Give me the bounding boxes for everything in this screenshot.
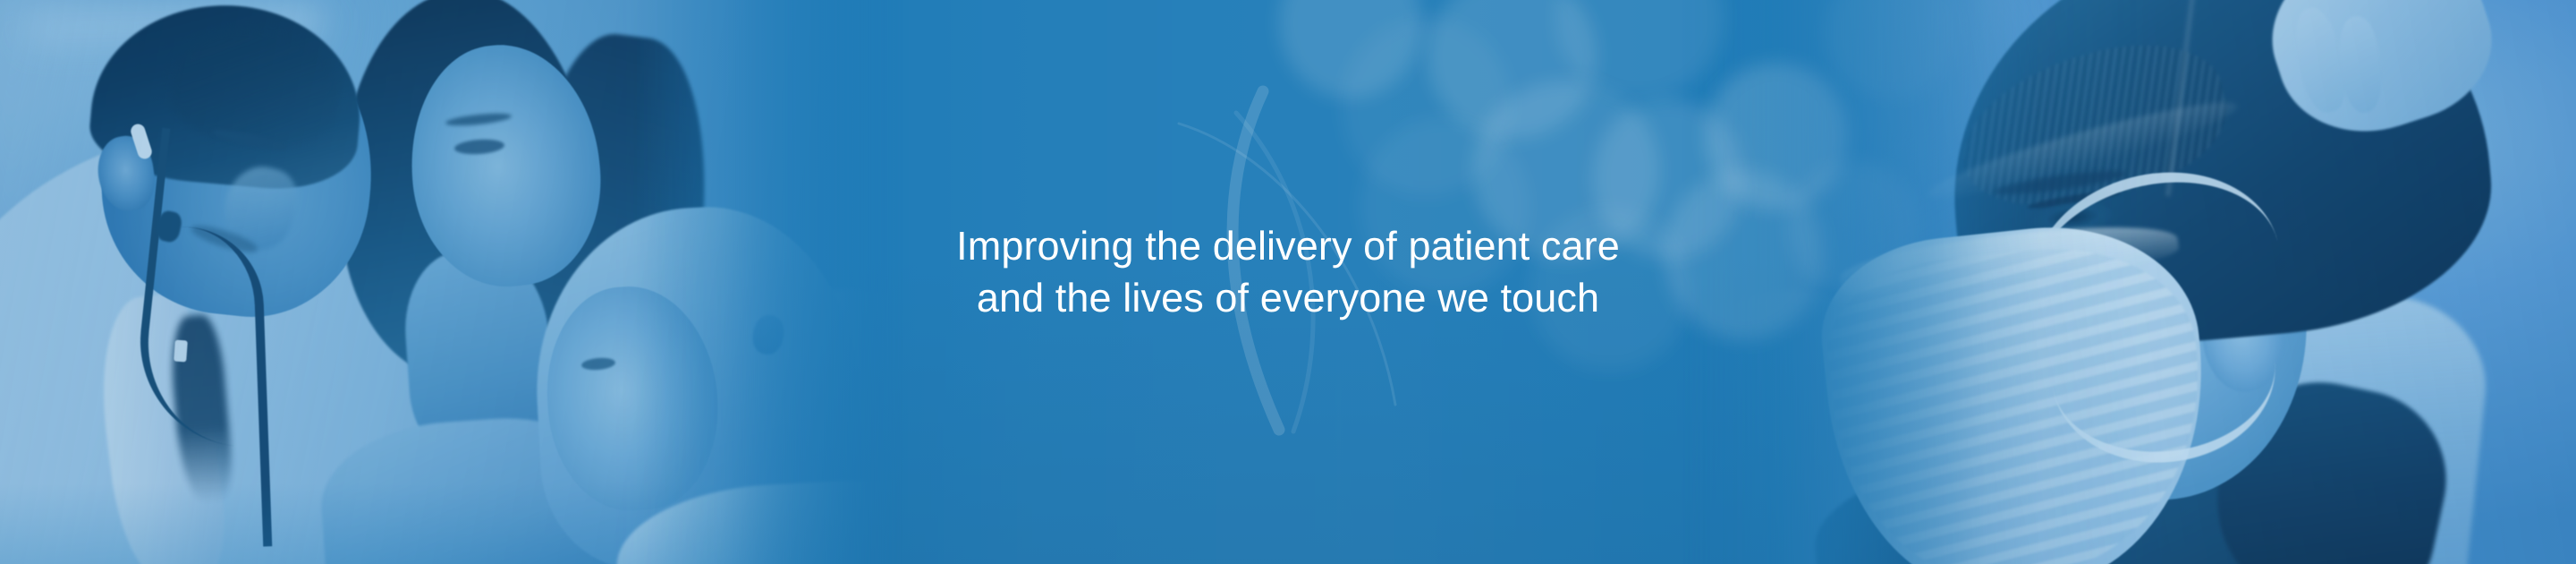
healthcare-hero-banner: Improving the delivery of patient care a… <box>0 0 2576 564</box>
hero-headline: Improving the delivery of patient care a… <box>0 220 2576 323</box>
hero-headline-line-1: Improving the delivery of patient care <box>0 220 2576 272</box>
hero-headline-line-2: and the lives of everyone we touch <box>0 272 2576 324</box>
